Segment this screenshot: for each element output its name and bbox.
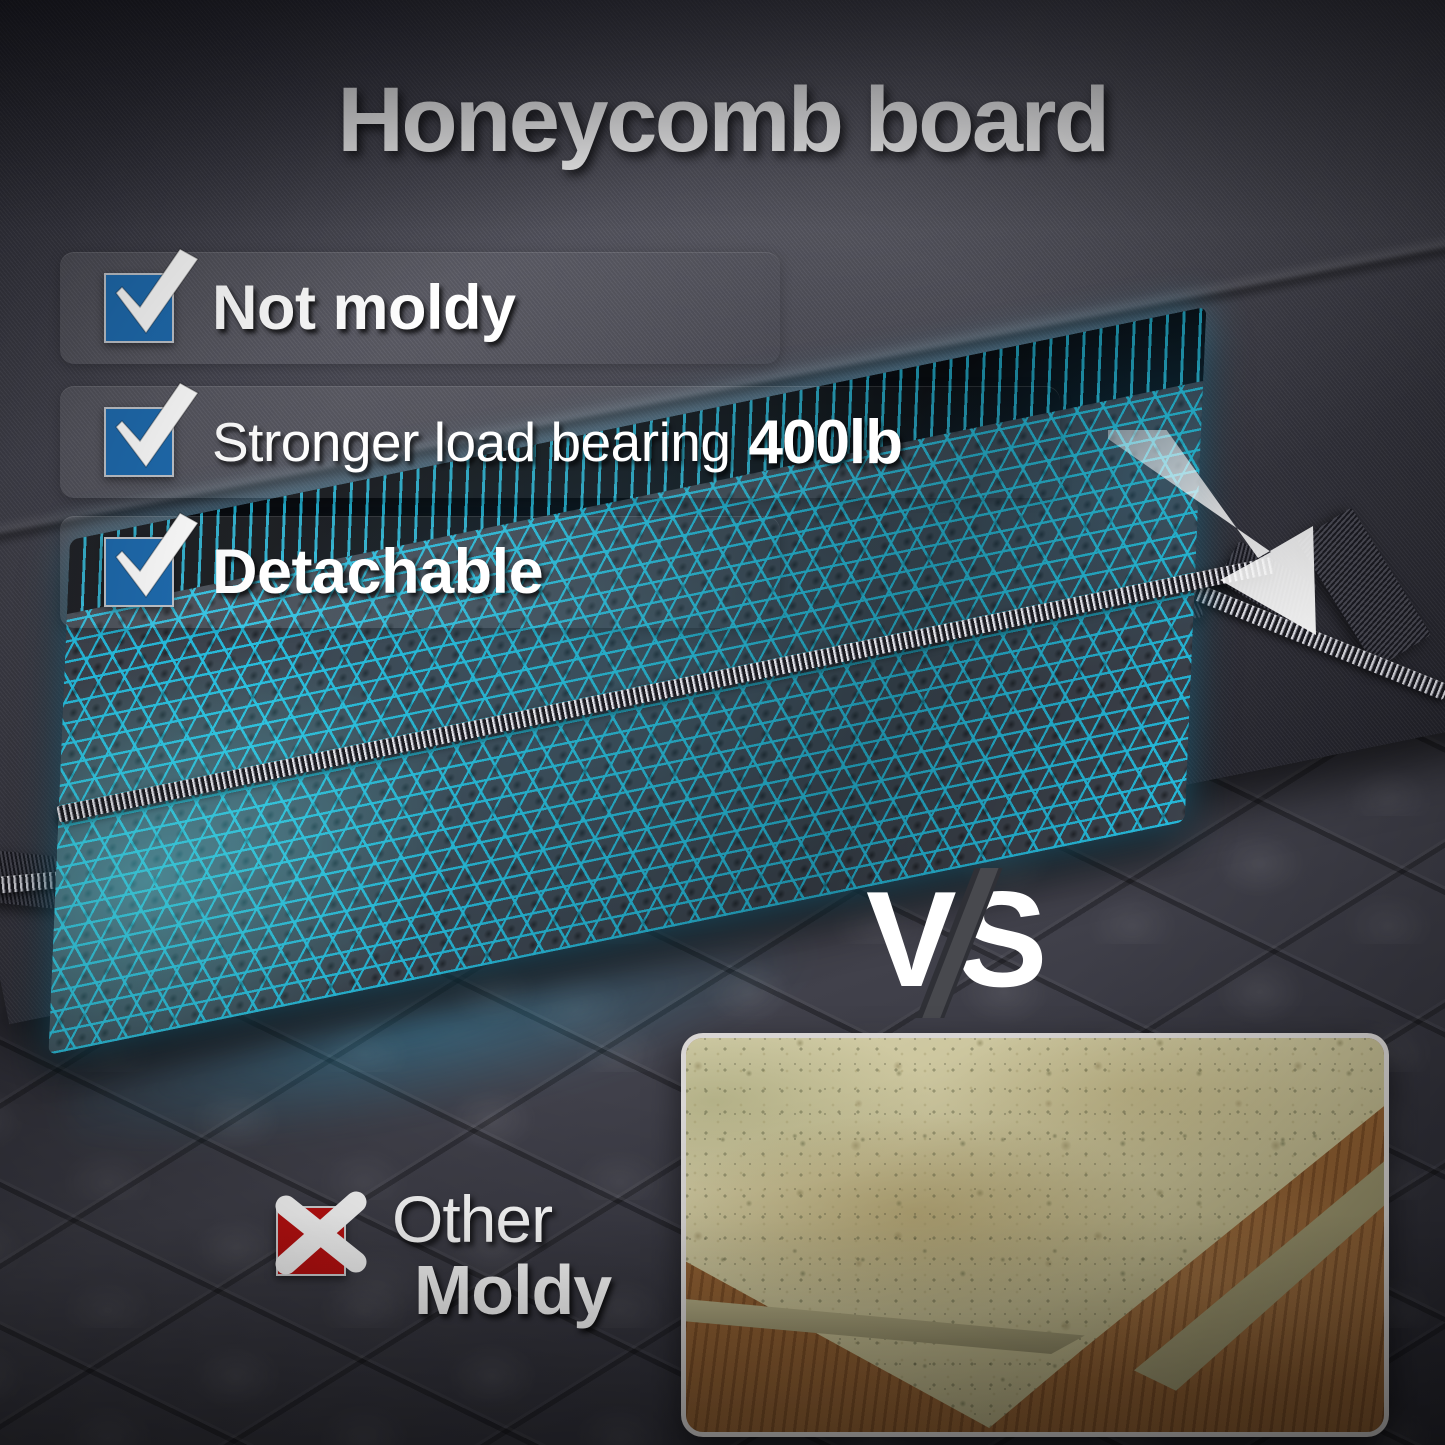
page-title: Honeycomb board <box>0 68 1445 173</box>
feature-label: Stronger load bearing <box>212 410 730 474</box>
feature-label: Not moldy <box>212 272 516 344</box>
feature-row-load-bearing: Stronger load bearing 400lb <box>60 386 1060 498</box>
vs-badge: VS <box>862 868 1052 1018</box>
feature-row-not-moldy: Not moldy <box>60 252 780 364</box>
moldy-plywood-photo <box>681 1033 1389 1437</box>
checkbox-checked-icon <box>104 273 174 343</box>
negative-line-1: Other <box>392 1186 611 1252</box>
feature-row-detachable: Detachable <box>60 516 780 628</box>
feature-emphasis-value: 400lb <box>748 407 902 478</box>
checkbox-checked-icon <box>104 407 174 477</box>
checkbox-checked-icon <box>104 537 174 607</box>
negative-comparison-label: Other Moldy <box>276 1186 611 1329</box>
arrow-down-right-icon <box>1108 430 1378 650</box>
product-infographic: VS Honeycomb board Not moldy Stronger lo… <box>0 0 1445 1445</box>
feature-label: Detachable <box>212 536 543 608</box>
x-mark-red-icon <box>276 1206 346 1276</box>
negative-line-2: Moldy <box>414 1252 611 1329</box>
